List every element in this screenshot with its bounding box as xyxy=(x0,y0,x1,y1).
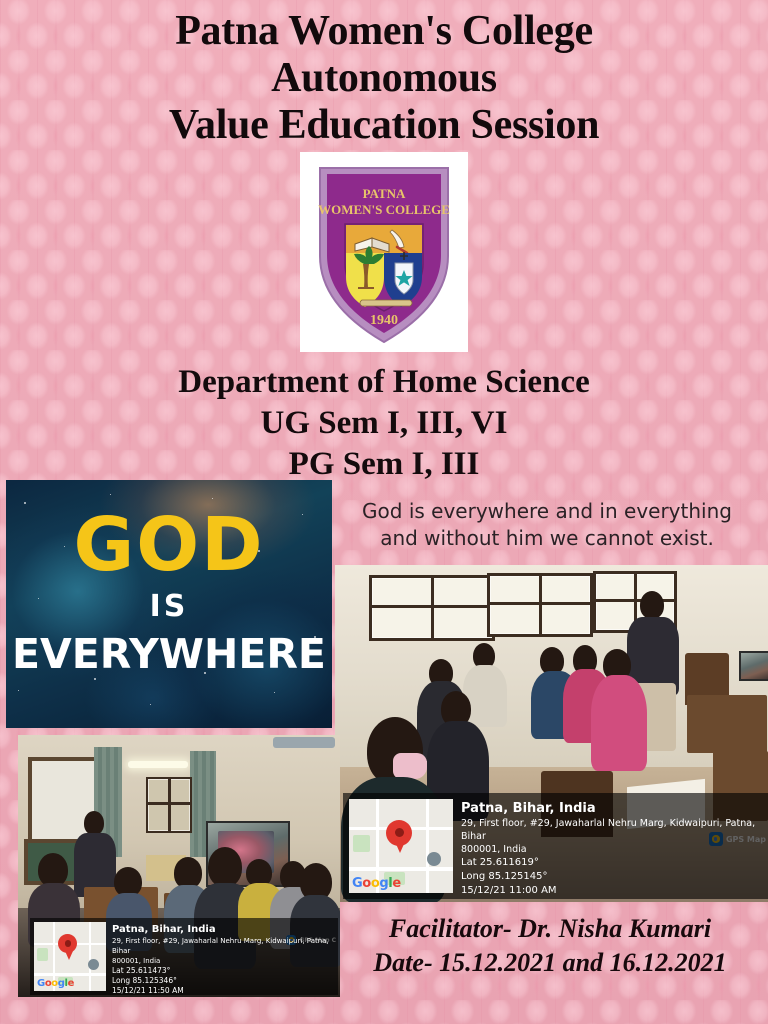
google-logo: Google xyxy=(352,876,401,891)
facilitator-name: Facilitator- Dr. Nisha Kumari xyxy=(332,912,768,946)
poster-canvas: Patna Women's College Autonomous Value E… xyxy=(0,0,768,1024)
god-is-text: IS xyxy=(6,592,332,622)
classroom-session-photo-left: GPS Map C Google Patna, Bihar, India 29,… xyxy=(18,735,340,997)
header-line-session: Value Education Session xyxy=(0,102,768,149)
photo-right-facilitator-head xyxy=(640,591,664,619)
gps-details: Patna, Bihar, India 29, First floor, #29… xyxy=(112,918,338,995)
google-logo: Google xyxy=(37,978,74,989)
crest-text-year: 1940 xyxy=(370,313,398,328)
gps-longitude: Long 85.125145° xyxy=(461,870,764,884)
photo-left-student-head xyxy=(38,853,68,887)
gps-address-1: 29, First floor, #29, Jawaharlal Nehru M… xyxy=(461,817,764,843)
photo-right-window-mid xyxy=(487,573,593,637)
map-location-pin-icon xyxy=(386,820,412,846)
photo-right-student-body xyxy=(591,675,647,771)
photo-left-window xyxy=(146,777,192,833)
photo-left-student-head xyxy=(208,847,242,887)
god-word-text: GOD xyxy=(6,508,332,582)
poster-footer: Facilitator- Dr. Nisha Kumari Date- 15.1… xyxy=(332,912,768,980)
gps-latitude: Lat 25.611619° xyxy=(461,856,764,870)
map-park xyxy=(37,948,49,960)
gps-minimap: Google xyxy=(349,799,453,893)
department-pg-sem: PG Sem I, III xyxy=(0,444,768,485)
map-road xyxy=(426,799,429,893)
crest-text-college: WOMEN'S COLLEGE xyxy=(318,202,450,217)
gps-timestamp: 15/12/21 11:00 AM xyxy=(461,884,764,898)
quote-line-2: and without him we cannot exist. xyxy=(332,525,762,552)
gps-address-2: 800001, India xyxy=(461,843,764,856)
map-road xyxy=(89,922,91,991)
map-park xyxy=(353,835,370,852)
header-line-autonomous: Autonomous xyxy=(0,55,768,102)
gps-place: Patna, Bihar, India xyxy=(112,923,335,936)
photo-right-window-left xyxy=(369,575,495,641)
god-everywhere-text: EVERYWHERE xyxy=(6,632,332,676)
map-road xyxy=(349,867,453,871)
map-road xyxy=(34,973,106,976)
gps-address-2: 800001, India xyxy=(112,956,335,966)
gps-minimap: Google xyxy=(34,922,106,991)
crest-text-patna: PATNA xyxy=(363,186,406,201)
department-block: Department of Home Science UG Sem I, III… xyxy=(0,362,768,485)
map-location-pin-icon xyxy=(58,934,77,953)
gps-details: Patna, Bihar, India 29, First floor, #29… xyxy=(461,793,768,899)
map-secondary-marker-icon xyxy=(427,852,441,866)
college-crest-logo: PATNA WOMEN'S COLLEGE xyxy=(300,152,468,352)
poster-header: Patna Women's College Autonomous Value E… xyxy=(0,8,768,149)
gps-place: Patna, Bihar, India xyxy=(461,800,764,817)
gps-stamp-left: Google Patna, Bihar, India 29, First flo… xyxy=(30,918,338,995)
map-secondary-marker-icon xyxy=(88,959,99,970)
gps-address-1: 29, First floor, #29, Jawaharlal Nehru M… xyxy=(112,936,335,956)
department-ug-sem: UG Sem I, III, VI xyxy=(0,403,768,444)
department-name: Department of Home Science xyxy=(0,362,768,403)
god-is-everywhere-graphic: GOD IS EVERYWHERE xyxy=(6,480,332,728)
classroom-session-photo-right: GPS Map Google Patna, Bihar, India 29, F… xyxy=(335,565,768,902)
photo-left-tubelight xyxy=(128,761,188,768)
photo-left-ceiling-unit xyxy=(273,737,335,748)
gps-timestamp: 15/12/21 11:50 AM xyxy=(112,986,335,995)
photo-right-monitor xyxy=(739,651,768,681)
quote-line-1: God is everywhere and in everything xyxy=(332,498,762,525)
photo-right-face-mask xyxy=(393,753,427,779)
crest-shield-icon: PATNA WOMEN'S COLLEGE xyxy=(300,152,468,352)
session-date: Date- 15.12.2021 and 16.12.2021 xyxy=(332,946,768,980)
photo-right-desk-a xyxy=(687,695,767,753)
gps-stamp-right: Google Patna, Bihar, India 29, First flo… xyxy=(343,793,768,899)
gps-latitude: Lat 25.611473° xyxy=(112,966,335,976)
gps-longitude: Long 85.125346° xyxy=(112,976,335,986)
photo-left-presenter-head xyxy=(84,811,104,835)
header-line-college: Patna Women's College xyxy=(0,8,768,55)
session-quote: God is everywhere and in everything and … xyxy=(332,498,762,552)
